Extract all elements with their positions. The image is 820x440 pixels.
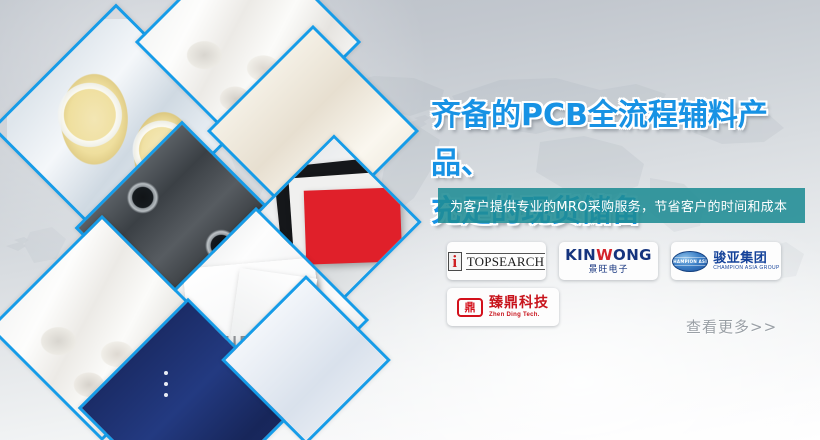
client-logo-row-1: TOPSEARCH KINWONG 景旺电子 CHAMPION ASIA 骏亚集…: [447, 242, 807, 280]
kinwong-wordmark: KINWONG: [565, 248, 652, 263]
zhen-ding-wordmark-cn: 臻鼎科技: [489, 296, 549, 310]
banner-subtitle-text: 为客户提供专业的MRO采购服务，节省客户的时间和成本: [438, 196, 787, 215]
promo-banner: JIE 齐备的PCB全流程辅料产品、 充足的现货储备 为客户提供专业的MRO采购…: [0, 0, 820, 440]
globe-icon: CHAMPION ASIA: [672, 251, 708, 272]
topsearch-wordmark: TOPSEARCH: [466, 253, 545, 270]
view-more-link[interactable]: 查看更多>>: [686, 316, 777, 337]
banner-content: 齐备的PCB全流程辅料产品、 充足的现货储备 为客户提供专业的MRO采购服务，节…: [0, 0, 820, 440]
topsearch-mark-icon: [448, 252, 462, 271]
champion-asia-wordmark-en: CHAMPION ASIA GROUP: [713, 266, 780, 271]
kinwong-sub-wordmark: 景旺电子: [588, 264, 628, 274]
client-logo-champion-asia[interactable]: CHAMPION ASIA 骏亚集团 CHAMPION ASIA GROUP: [671, 242, 781, 280]
zhen-ding-mark-icon: 鼎: [457, 298, 483, 317]
client-logo-topsearch[interactable]: TOPSEARCH: [447, 242, 546, 280]
client-logo-zhen-ding[interactable]: 鼎 臻鼎科技 Zhen Ding Tech.: [447, 288, 559, 326]
client-logo-kinwong[interactable]: KINWONG 景旺电子: [559, 242, 658, 280]
champion-asia-wordmark-cn: 骏亚集团: [713, 251, 780, 264]
zhen-ding-wordmark-en: Zhen Ding Tech.: [489, 312, 549, 318]
banner-subtitle-bar: 为客户提供专业的MRO采购服务，节省客户的时间和成本: [438, 188, 805, 223]
